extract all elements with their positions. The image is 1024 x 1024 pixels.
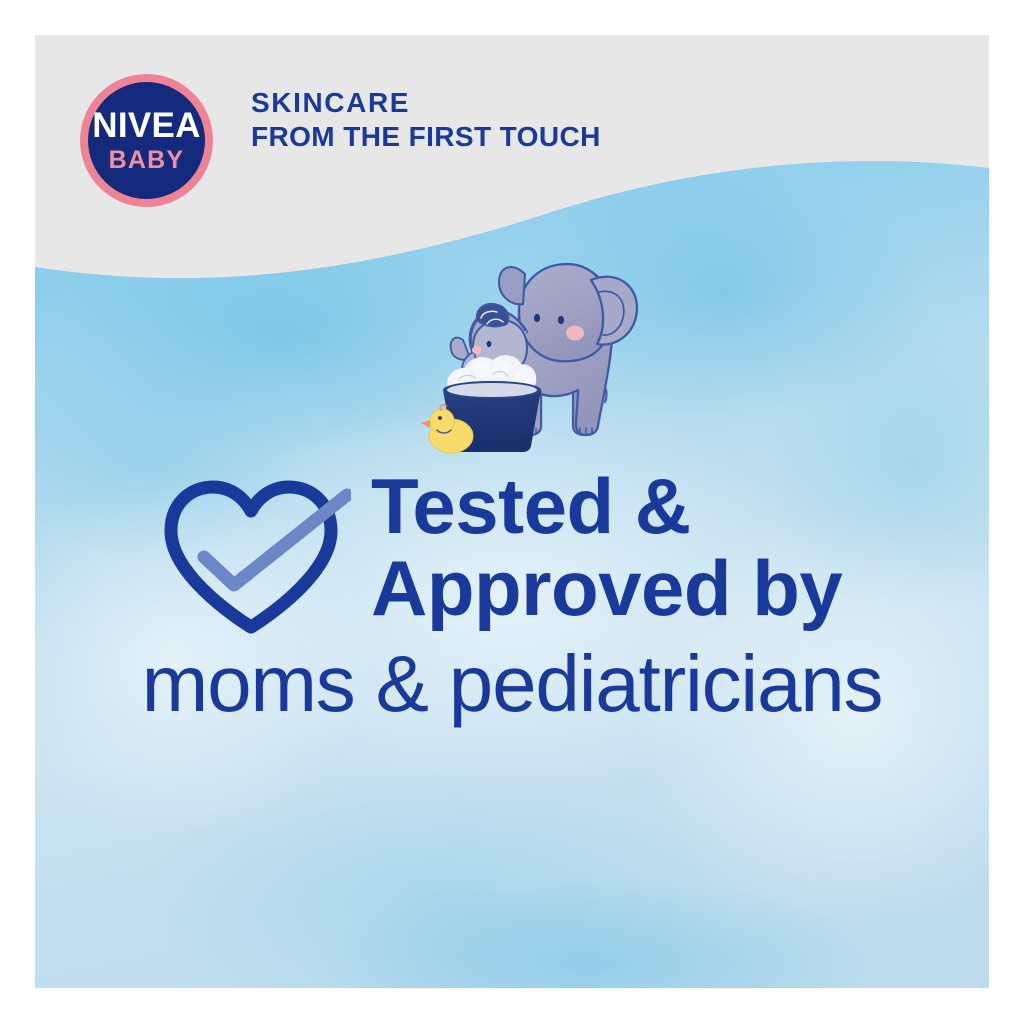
claim-block: Tested & Approved by moms & pediatrician… xyxy=(35,465,989,745)
claim-line-1: Tested & xyxy=(371,465,842,547)
elephant-bath-illustration xyxy=(415,240,645,455)
brand-tagline: SKINCARE FROM THE FIRST TOUCH xyxy=(251,86,601,154)
claim-line-3: moms & pediatricians xyxy=(35,641,989,727)
logo-disc: NIVEA BABY xyxy=(88,82,205,199)
header: NIVEA BABY SKINCARE FROM THE FIRST TOUCH xyxy=(35,35,989,235)
nivea-baby-logo: NIVEA BABY xyxy=(80,74,213,207)
logo-brand-name: NIVEA xyxy=(92,108,200,143)
tagline-line-1: SKINCARE xyxy=(251,86,601,120)
claim-line-2: Approved by xyxy=(371,547,842,629)
heart-check-icon xyxy=(151,469,351,639)
claim-headline: Tested & Approved by xyxy=(371,465,842,629)
heart-outline xyxy=(171,487,331,627)
logo-sub-brand-name: BABY xyxy=(109,148,185,173)
tagline-line-2: FROM THE FIRST TOUCH xyxy=(251,120,601,154)
ad-card: NIVEA BABY SKINCARE FROM THE FIRST TOUCH xyxy=(35,35,989,988)
